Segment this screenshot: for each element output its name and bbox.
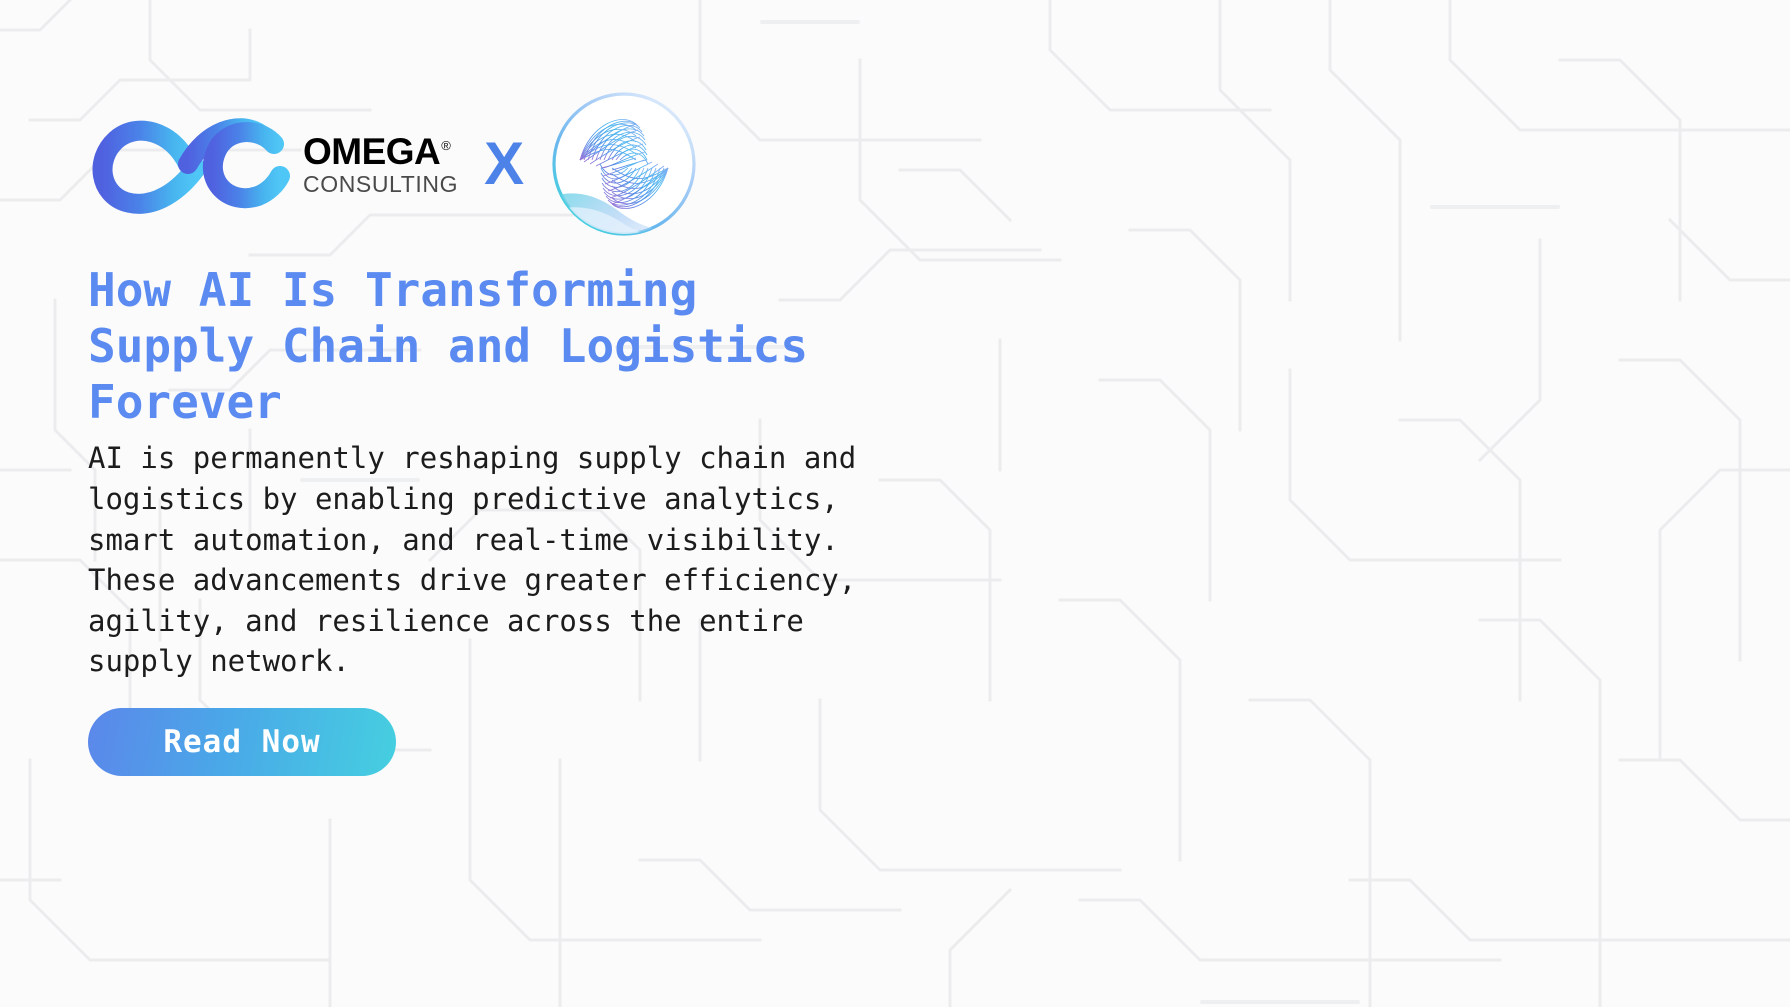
infinity-loop-icon xyxy=(88,110,293,218)
omega-name: OMEGA® xyxy=(303,133,458,170)
brand-lockup: OMEGA® CONSULTING X xyxy=(88,88,868,240)
hero-description: AI is permanently reshaping supply chain… xyxy=(88,438,868,682)
hero-content: OMEGA® CONSULTING X xyxy=(88,88,868,776)
omega-name-text: OMEGA xyxy=(303,131,440,172)
spirograph-circle-icon xyxy=(550,90,698,238)
read-now-button[interactable]: Read Now xyxy=(88,708,396,776)
registered-trademark-icon: ® xyxy=(441,138,450,153)
page-title: How AI Is Transforming Supply Chain and … xyxy=(88,262,868,430)
cta-container: Read Now xyxy=(88,708,868,776)
collaboration-separator: X xyxy=(484,134,524,194)
omega-tagline: CONSULTING xyxy=(303,173,458,196)
omega-wordmark: OMEGA® CONSULTING xyxy=(303,133,458,196)
